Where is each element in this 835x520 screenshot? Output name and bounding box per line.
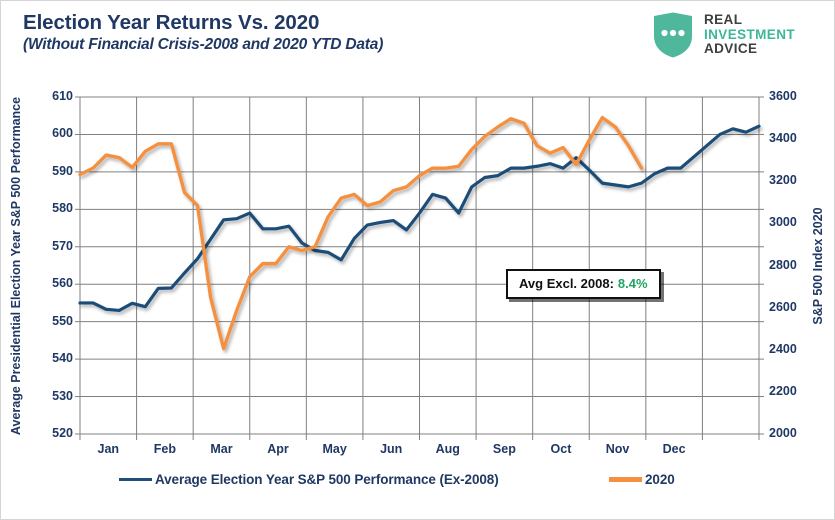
y-axis-right-tick-label: 2200 xyxy=(769,384,813,398)
plot-svg xyxy=(80,97,759,434)
annotation-callout: Avg Excl. 2008:8.4% xyxy=(506,269,661,299)
y-axis-left-tick-label: 590 xyxy=(33,164,73,178)
x-axis-tick-label: Nov xyxy=(606,442,630,456)
y-axis-left-tick-label: 550 xyxy=(33,314,73,328)
y-axis-right-tick-label: 3200 xyxy=(769,173,813,187)
legend-item-2020[interactable]: 2020 xyxy=(609,472,675,487)
x-axis-tick-label: Jan xyxy=(98,442,120,456)
logo-line-real: REAL xyxy=(704,13,795,28)
page-title: Election Year Returns Vs. 2020 xyxy=(23,11,319,35)
chart-screenshot: Election Year Returns Vs. 2020 (Without … xyxy=(0,0,835,520)
brand-logo: REAL INVESTMENT ADVICE xyxy=(652,10,824,60)
y-axis-left-tick-label: 520 xyxy=(33,426,73,440)
y-axis-left-tick-label: 610 xyxy=(33,89,73,103)
logo-line-advice: ADVICE xyxy=(704,42,795,57)
y-axis-left-tick-label: 570 xyxy=(33,239,73,253)
chart-legend: Average Election Year S&P 500 Performanc… xyxy=(1,469,835,499)
brand-logo-text: REAL INVESTMENT ADVICE xyxy=(704,13,795,57)
x-axis-tick-label: Oct xyxy=(551,442,572,456)
gridlines xyxy=(80,97,759,434)
legend-swatch-blue xyxy=(119,478,152,482)
y-axis-right-title: S&P 500 Index 2020 xyxy=(811,207,825,324)
logo-line-investment: INVESTMENT xyxy=(704,28,795,43)
y-axis-right-tick-label: 3400 xyxy=(769,131,813,145)
legend-label-0: Average Election Year S&P 500 Performanc… xyxy=(155,472,499,487)
legend-label-1: 2020 xyxy=(645,472,675,487)
y-axis-right-tick-label: 3000 xyxy=(769,215,813,229)
y-axis-right-tick-label: 2600 xyxy=(769,300,813,314)
y-axis-right-tick-label: 3600 xyxy=(769,89,813,103)
legend-item-average-election-year[interactable]: Average Election Year S&P 500 Performanc… xyxy=(119,472,499,487)
annotation-value: 8.4% xyxy=(618,276,648,291)
y-axis-left-tick-label: 580 xyxy=(33,201,73,215)
y-axis-left-title: Average Presidential Election Year S&P 5… xyxy=(9,96,23,434)
x-axis-tick-label: Sep xyxy=(493,442,516,456)
x-axis-tick-label: Feb xyxy=(154,442,176,456)
y-axis-left-tick-label: 600 xyxy=(33,126,73,140)
y-axis-left-tick-label: 540 xyxy=(33,351,73,365)
y-axis-left-tick-label: 530 xyxy=(33,389,73,403)
y-axis-left-tick-label: 560 xyxy=(33,276,73,290)
page-subtitle: (Without Financial Crisis-2008 and 2020 … xyxy=(23,36,383,54)
y-axis-left-title-wrap: Average Presidential Election Year S&P 5… xyxy=(7,97,25,434)
x-axis-tick-label: Dec xyxy=(663,442,686,456)
shield-icon xyxy=(652,12,694,58)
y-axis-right-tick-label: 2000 xyxy=(769,426,813,440)
plot-area xyxy=(80,97,759,434)
annotation-label: Avg Excl. 2008: xyxy=(519,276,614,291)
x-axis-tick-label: Mar xyxy=(210,442,232,456)
x-axis-tick-label: Aug xyxy=(436,442,460,456)
y-axis-right-tick-label: 2400 xyxy=(769,342,813,356)
legend-swatch-orange xyxy=(609,477,642,482)
x-axis-tick-label: Apr xyxy=(267,442,289,456)
x-axis-tick-label: May xyxy=(322,442,346,456)
x-axis-tick-label: Jun xyxy=(380,442,402,456)
y-axis-right-tick-label: 2800 xyxy=(769,258,813,272)
